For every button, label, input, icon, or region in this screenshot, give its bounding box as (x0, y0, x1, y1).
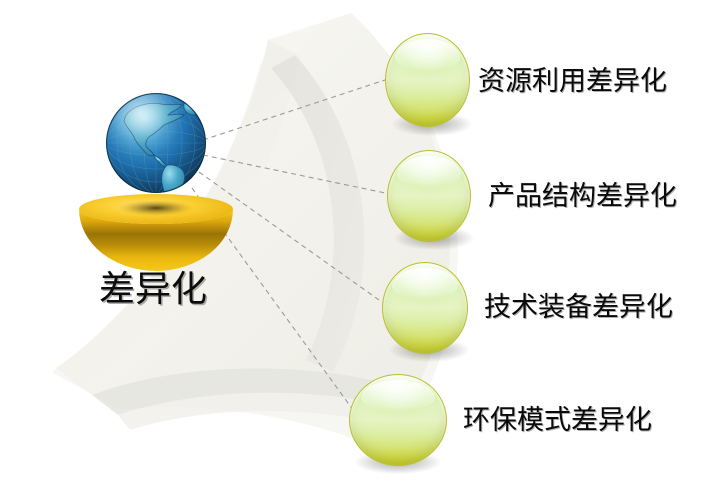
connector-line-2 (203, 155, 390, 194)
branch-label-3: 技术装备差异化 (484, 294, 673, 321)
diagram-canvas: 差异化 资源利用差异化 产品结构差异化 技术装备差异化 环保模式差异化 (0, 0, 721, 489)
branch-orb-2[interactable] (387, 150, 471, 242)
globe-icon (104, 91, 208, 197)
branch-label-2: 产品结构差异化 (488, 183, 677, 210)
branch-label-1: 资源利用差异化 (478, 68, 667, 95)
branch-orb-1[interactable] (385, 33, 470, 127)
connector-line-1 (203, 79, 388, 140)
branch-orb-3[interactable] (382, 262, 468, 354)
branch-orb-4[interactable] (349, 374, 447, 466)
center-label: 差异化 (99, 271, 207, 307)
branch-label-4: 环保模式差异化 (463, 407, 652, 434)
golden-bowl-icon (77, 193, 235, 271)
